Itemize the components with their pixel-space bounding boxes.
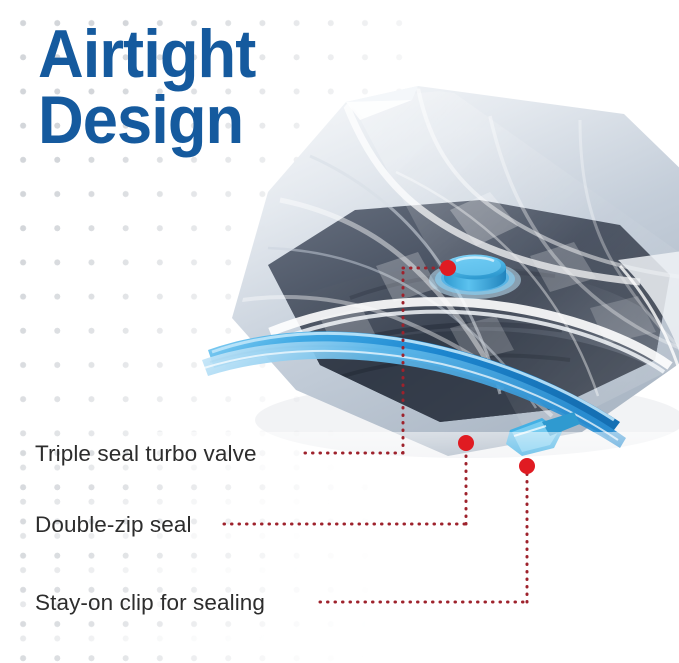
product-feature-infographic: Airtight Design xyxy=(0,0,679,663)
callout-label-stay-on-clip-for-sealing: Stay-on clip for sealing xyxy=(35,590,265,616)
headline-line-1: Airtight xyxy=(38,22,255,88)
page-title: Airtight Design xyxy=(38,22,272,154)
callout-label-double-zip-seal: Double-zip seal xyxy=(35,512,192,538)
callout-label-triple-seal-turbo-valve: Triple seal turbo valve xyxy=(35,441,257,467)
headline-line-2: Design xyxy=(38,88,255,154)
